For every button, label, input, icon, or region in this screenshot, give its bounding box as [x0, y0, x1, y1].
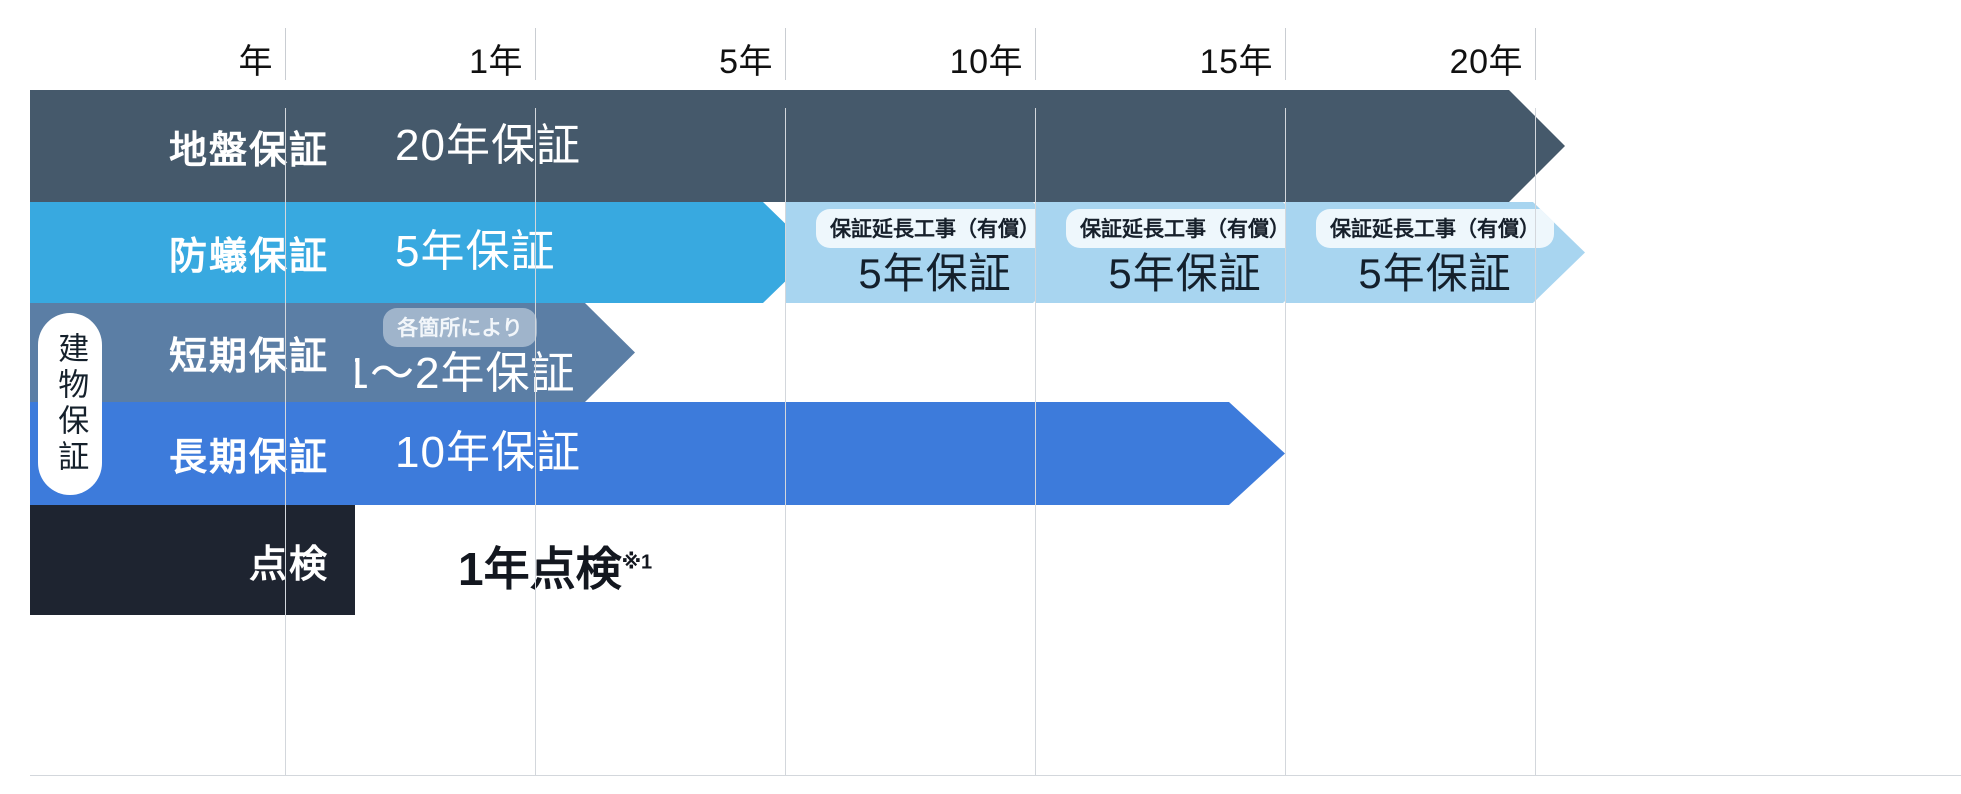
bar-badge-short-term-warranty: 各箇所により — [383, 308, 537, 347]
bar-label-termite-extension-2: 5年保証 — [1108, 252, 1261, 296]
bar-long-term-warranty: 10年保証 — [285, 402, 1285, 505]
row-label-text: 長期保証 — [169, 426, 329, 481]
bar-label-termite-extension-1: 5年保証 — [858, 252, 1011, 296]
row-label-text: 防蟻保証 — [169, 225, 329, 280]
table-row-inspection: 点検 — [0, 505, 1961, 615]
axis-tick-rule-20 — [1535, 28, 1536, 80]
bar-badge-termite-extension-3: 保証延長工事（有償） — [1316, 209, 1554, 248]
axis-tick-rule-10 — [1035, 28, 1036, 80]
table-row-short-term-warranty: 短期保証 各箇所により 1〜2年保証 — [0, 303, 1961, 402]
axis-tick-rule-5 — [785, 28, 786, 80]
axis-tick-rule-0 — [285, 28, 286, 80]
bar-label-long-term-warranty: 10年保証 — [395, 430, 581, 476]
table-row-ground-warranty: 地盤保証 20年保証 — [0, 90, 1961, 202]
bar-label-ground-warranty: 20年保証 — [395, 123, 581, 169]
bar-label-termite-extension-3: 5年保証 — [1358, 252, 1511, 296]
row-label-text: 短期保証 — [169, 325, 329, 380]
axis-tick-label-0: 年 — [239, 34, 286, 83]
table-row-long-term-warranty: 長期保証 10年保証 — [0, 402, 1961, 505]
inspection-marker-1y: 1年点検※1 — [458, 533, 652, 599]
row-track-short-term-warranty: 各箇所により 1〜2年保証 — [355, 303, 1961, 402]
bar-termite-warranty-5y: 5年保証 — [285, 202, 815, 303]
axis-tick-label-15: 15年 — [1200, 34, 1285, 83]
grid-line-bottom — [30, 775, 1961, 776]
row-label-termite-warranty: 防蟻保証 — [30, 202, 355, 303]
warranty-timeline-chart: 年 1年 5年 10年 15年 20年 地盤保証 20年保証 防蟻保 — [0, 0, 1961, 794]
axis-tick-label-1: 1年 — [469, 34, 535, 83]
axis-tick-label-20: 20年 — [1450, 34, 1535, 83]
row-track-termite-warranty: 5年保証 保証延長工事（有償） 5年保証 保証延長工事（有償） 5年保証 保証延… — [355, 202, 1961, 303]
row-label-ground-warranty: 地盤保証 — [30, 90, 355, 202]
group-label-building-warranty: 建物保証 — [38, 313, 102, 495]
axis-tick-label-5: 5年 — [719, 34, 785, 83]
bar-badge-termite-extension-2: 保証延長工事（有償） — [1066, 209, 1304, 248]
row-label-text: 地盤保証 — [169, 119, 329, 174]
row-track-ground-warranty: 20年保証 — [355, 90, 1961, 202]
bar-label-termite-warranty: 5年保証 — [395, 229, 555, 275]
group-label-text: 建物保証 — [52, 332, 89, 476]
row-label-inspection: 点検 — [30, 505, 355, 615]
inspection-marker-text: 1年点検 — [458, 543, 622, 595]
bar-badge-termite-extension-1: 保証延長工事（有償） — [816, 209, 1054, 248]
axis-tick-rule-1 — [535, 28, 536, 80]
axis-tick-label-10: 10年 — [950, 34, 1035, 83]
table-row-termite-warranty: 防蟻保証 5年保証 保証延長工事（有償） 5年保証 保証延長工事（有償） 5年保… — [0, 202, 1961, 303]
axis-tick-rule-15 — [1285, 28, 1286, 80]
bar-ground-warranty-20y: 20年保証 — [285, 90, 1565, 202]
bar-termite-extension-3: 保証延長工事（有償） 5年保証 — [1285, 202, 1585, 303]
row-track-long-term-warranty: 10年保証 — [355, 402, 1961, 505]
row-label-text: 点検 — [249, 533, 329, 588]
inspection-marker-note: ※1 — [622, 552, 653, 574]
bar-label-short-term-warranty: 1〜2年保証 — [345, 351, 576, 397]
